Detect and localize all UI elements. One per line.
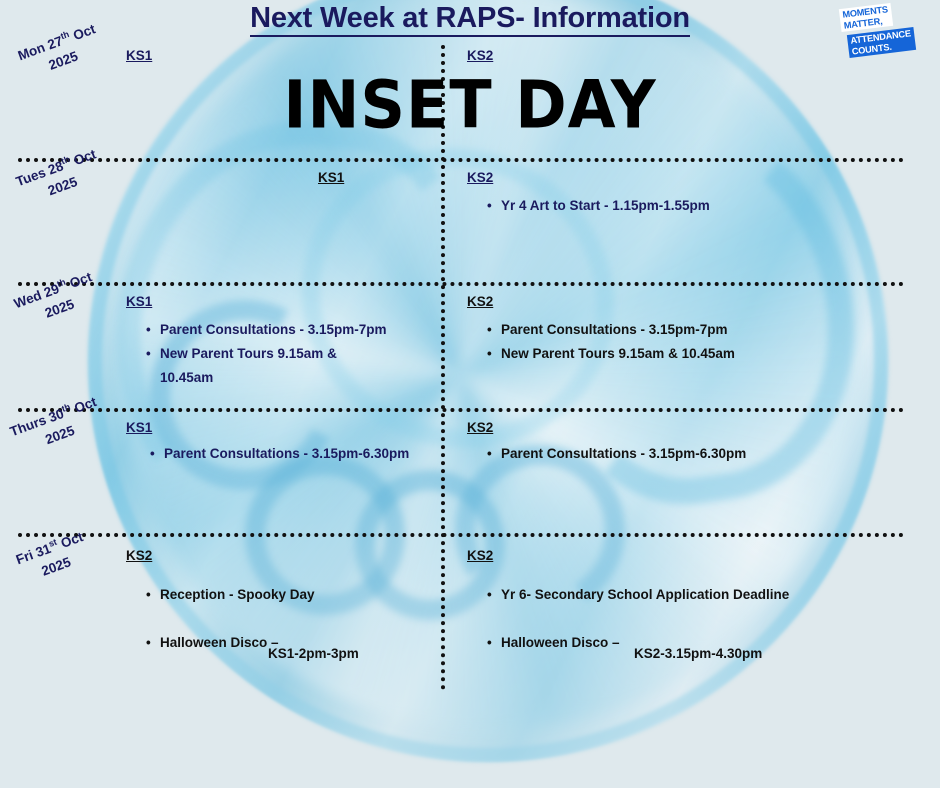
- list-item-text: Parent Consultations - 3.15pm-7pm: [160, 322, 387, 337]
- row-wednesday-ks1-header: KS1: [126, 294, 152, 309]
- row-thursday-ks1-items: Parent Consultations - 3.15pm-6.30pm: [150, 442, 409, 466]
- page-title-text: Next Week at RAPS- Information: [250, 2, 690, 37]
- list-item-text: New Parent Tours 9.15am & 10.45am: [501, 346, 735, 361]
- attendance-logo: MOMENTS MATTER, ATTENDANCE COUNTS.: [838, 4, 934, 64]
- list-item: Reception - Spooky Day: [146, 571, 315, 619]
- row-divider-4: [18, 533, 904, 537]
- logo-line-moments-matter: MOMENTS MATTER,: [839, 3, 893, 32]
- weekly-information-poster: Next Week at RAPS- Information MOMENTS M…: [0, 0, 940, 788]
- list-item: New Parent Tours 9.15am & 10.45am: [487, 342, 735, 366]
- day-label-tuesday: Tues 28th Oct 2025: [12, 141, 105, 209]
- row-thursday-ks2-header: KS2: [467, 420, 493, 435]
- list-item-text: Reception - Spooky Day: [160, 587, 315, 602]
- row-thursday-ks2-items: Parent Consultations - 3.15pm-6.30pm: [487, 442, 746, 466]
- list-item-text: Parent Consultations - 3.15pm-6.30pm: [164, 446, 409, 461]
- list-item: Parent Consultations - 3.15pm-6.30pm: [487, 442, 746, 466]
- day-label-thursday: Thurs 30th Oct 2025: [6, 389, 106, 459]
- row-thursday-ks1-header: KS1: [126, 420, 152, 435]
- list-item-text: 10.45am: [160, 370, 213, 385]
- inset-day-banner: INSET DAY: [0, 66, 940, 143]
- row-divider-1: [18, 158, 904, 162]
- row-friday-left-ks-header: KS2: [126, 548, 152, 563]
- row-monday-ks2-header: KS2: [467, 48, 493, 63]
- day-label-wednesday: Wed 29th Oct 2025: [10, 264, 101, 331]
- list-item: New Parent Tours 9.15am &: [146, 342, 387, 366]
- list-item-text: Halloween Disco –: [160, 635, 279, 650]
- row-tuesday-ks1-header: KS1: [318, 170, 344, 185]
- list-item-text: New Parent Tours 9.15am &: [160, 346, 337, 361]
- row-wednesday-ks1-items: Parent Consultations - 3.15pm-7pm New Pa…: [146, 318, 387, 390]
- row-friday-right-ks-header: KS2: [467, 548, 493, 563]
- row-wednesday-ks2-header: KS2: [467, 294, 493, 309]
- logo-line-attendance-counts: ATTENDANCE COUNTS.: [847, 27, 916, 58]
- row-monday-ks1-header: KS1: [126, 48, 152, 63]
- row-tuesday-ks2-header: KS2: [467, 170, 493, 185]
- list-item: Yr 6- Secondary School Application Deadl…: [487, 571, 789, 619]
- list-item-continuation: 10.45am: [146, 366, 387, 390]
- row-wednesday-ks2-items: Parent Consultations - 3.15pm-7pm New Pa…: [487, 318, 735, 366]
- list-item-text: Parent Consultations - 3.15pm-6.30pm: [501, 446, 746, 461]
- list-item-text: Yr 4 Art to Start - 1.15pm-1.55pm: [501, 198, 710, 213]
- list-item: Yr 4 Art to Start - 1.15pm-1.55pm: [487, 194, 710, 218]
- list-item: Parent Consultations - 3.15pm-6.30pm: [150, 442, 409, 466]
- page-title: Next Week at RAPS- Information: [0, 2, 940, 35]
- list-item: Parent Consultations - 3.15pm-7pm: [146, 318, 387, 342]
- row-friday-left-continuation: KS1-2pm-3pm: [268, 646, 359, 661]
- row-tuesday-ks2-items: Yr 4 Art to Start - 1.15pm-1.55pm: [487, 194, 710, 218]
- list-item: Parent Consultations - 3.15pm-7pm: [487, 318, 735, 342]
- list-item-text: Parent Consultations - 3.15pm-7pm: [501, 322, 728, 337]
- row-friday-right-continuation: KS2-3.15pm-4.30pm: [634, 646, 762, 661]
- list-item-text: Yr 6- Secondary School Application Deadl…: [501, 587, 789, 602]
- row-divider-3: [18, 408, 904, 412]
- list-item-text: Halloween Disco –: [501, 635, 620, 650]
- row-divider-2: [18, 282, 904, 286]
